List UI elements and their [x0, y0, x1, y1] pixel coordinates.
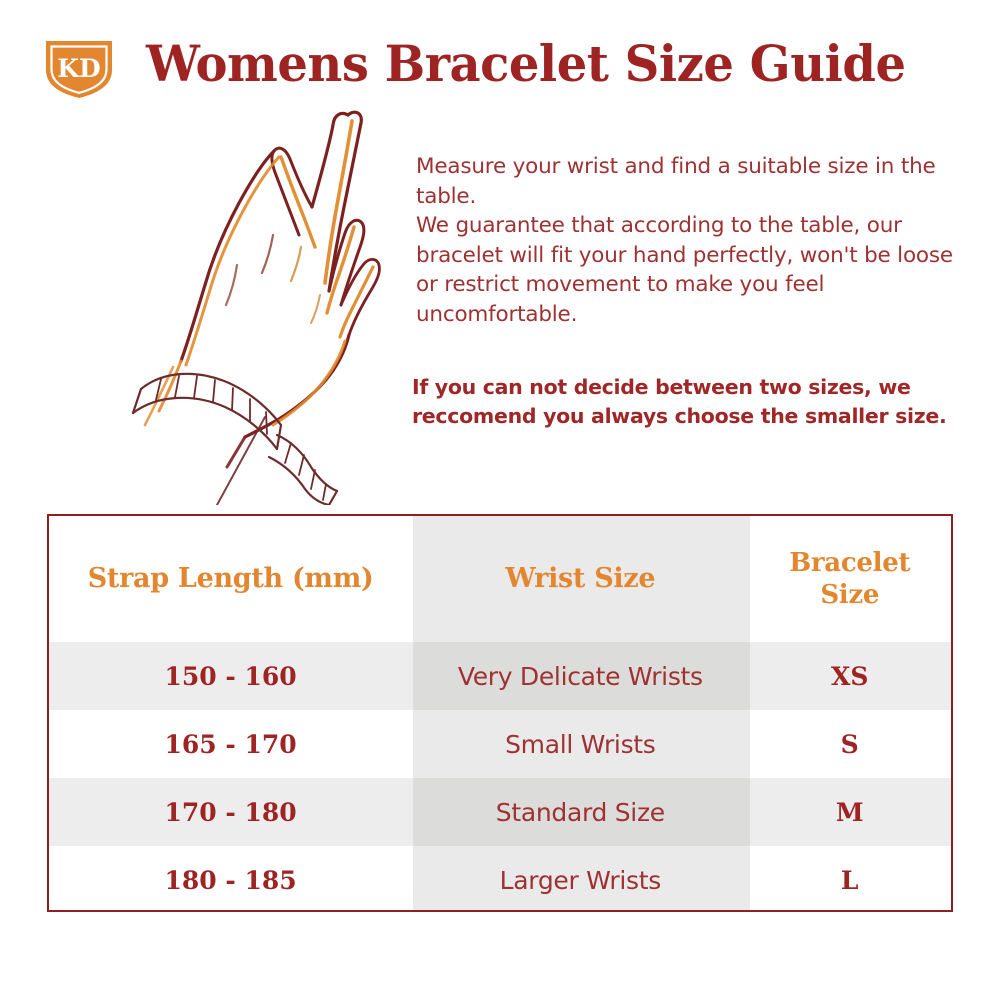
table-row: 180 - 185 Larger Wrists L: [49, 846, 951, 914]
table-header-label: Strap Length (mm): [88, 563, 374, 595]
cell-wrist-size: Larger Wrists: [412, 846, 748, 914]
cell-value: Very Delicate Wrists: [458, 662, 703, 691]
cell-value: L: [841, 866, 859, 895]
cell-strap-length: 150 - 160: [49, 642, 412, 710]
page-header: KD Womens Bracelet Size Guide: [0, 0, 1000, 110]
recommendation-note: If you can not decide between two sizes,…: [412, 373, 972, 431]
table-row: 170 - 180 Standard Size M: [49, 778, 951, 846]
cell-value: XS: [831, 662, 868, 691]
size-table: Strap Length (mm) Wrist Size Bracelet Si…: [47, 514, 953, 912]
intro-paragraph: Measure your wrist and find a suitable s…: [416, 152, 972, 329]
table-row: 150 - 160 Very Delicate Wrists XS: [49, 642, 951, 710]
cell-value: 170 - 180: [165, 798, 297, 827]
hand-with-measuring-tape-illustration: [105, 95, 405, 505]
cell-wrist-size: Small Wrists: [412, 710, 748, 778]
table-header-row: Strap Length (mm) Wrist Size Bracelet Si…: [49, 516, 951, 642]
table-header-label: Wrist Size: [505, 563, 655, 595]
table-header-strap-length: Strap Length (mm): [49, 516, 412, 642]
cell-bracelet-size: XS: [748, 642, 951, 710]
cell-strap-length: 165 - 170: [49, 710, 412, 778]
cell-value: Larger Wrists: [500, 866, 661, 895]
page-title: Womens Bracelet Size Guide: [146, 34, 943, 94]
cell-strap-length: 180 - 185: [49, 846, 412, 914]
table-row: 165 - 170 Small Wrists S: [49, 710, 951, 778]
cell-bracelet-size: M: [748, 778, 951, 846]
cell-value: Standard Size: [496, 798, 665, 827]
cell-strap-length: 170 - 180: [49, 778, 412, 846]
cell-value: 180 - 185: [165, 866, 297, 895]
cell-value: 150 - 160: [165, 662, 297, 691]
logo-text: KD: [57, 54, 100, 83]
table-header-bracelet-size: Bracelet Size: [748, 516, 951, 642]
cell-bracelet-size: L: [748, 846, 951, 914]
cell-value: S: [841, 730, 859, 759]
cell-value: 165 - 170: [165, 730, 297, 759]
cell-value: M: [836, 798, 864, 827]
cell-bracelet-size: S: [748, 710, 951, 778]
cell-value: Small Wrists: [505, 730, 655, 759]
cell-wrist-size: Standard Size: [412, 778, 748, 846]
table-header-label-line2: Size: [820, 580, 879, 610]
table-header-label-line1: Bracelet: [789, 548, 910, 578]
brand-logo: KD: [42, 36, 116, 100]
cell-wrist-size: Very Delicate Wrists: [412, 642, 748, 710]
table-header-wrist-size: Wrist Size: [412, 516, 748, 642]
table-header-label: Bracelet Size: [789, 547, 910, 611]
intro-text-block: Measure your wrist and find a suitable s…: [416, 152, 972, 329]
